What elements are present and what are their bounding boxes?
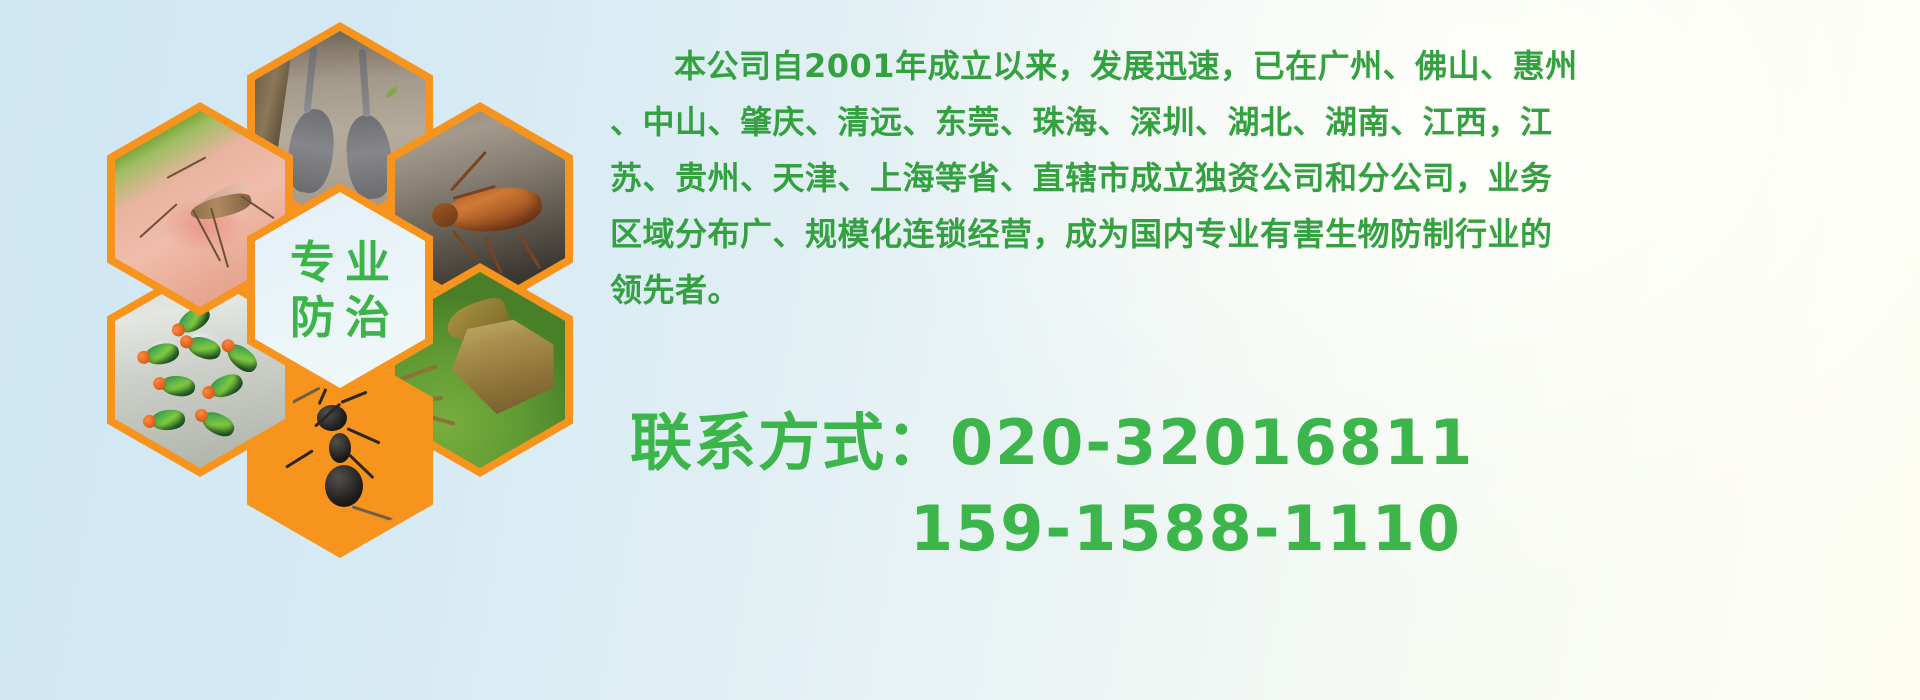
fly-6 [198, 408, 237, 441]
cockroach-body [444, 184, 544, 237]
intro-line-2: 、中山、肇庆、清远、东莞、珠海、深圳、湖北、湖南、江西，江 [610, 94, 1910, 150]
slogan-line-1: 专业 [280, 239, 400, 286]
hex-inner-slogan: 专业 防治 [255, 192, 425, 388]
intro-line-3: 苏、贵州、天津、上海等省、直辖市成立独资公司和分公司，业务 [610, 150, 1910, 206]
contact-phone-mobile[interactable]: 159-1588-1110 [620, 486, 1910, 572]
company-intro: 本公司自2001年成立以来，发展迅速，已在广州、佛山、惠州 、中山、肇庆、清远、… [610, 38, 1910, 318]
cockroach-antenna-1 [450, 151, 487, 192]
ant-leg-3 [285, 449, 314, 469]
leaf-debris-2 [385, 85, 400, 98]
ant-thorax [329, 433, 351, 463]
fly-4 [206, 370, 245, 401]
intro-line-4: 区域分布广、规模化连锁经营，成为国内专业有害生物防制行业的 [610, 206, 1910, 262]
content-column: 本公司自2001年成立以来，发展迅速，已在广州、佛山、惠州 、中山、肇庆、清远、… [610, 0, 1920, 700]
contact-block: 联系方式：020-32016811 159-1588-1110 [620, 400, 1910, 572]
honeycomb-collage: 专业 防治 [90, 0, 590, 580]
mosquito-antenna [167, 156, 207, 178]
cockroach-leg-3 [518, 234, 542, 270]
fly-3 [160, 374, 196, 397]
ant-abdomen [325, 465, 363, 507]
mosquito-leg-3 [139, 203, 177, 238]
cockroach-leg-1 [452, 230, 477, 260]
slogan-block: 专业 防治 [255, 192, 425, 388]
fly-5 [150, 408, 186, 431]
pest-control-banner: 专业 防治 本公司自2001年成立以来，发展迅速，已在广州、佛山、惠州 、中山、… [0, 0, 1920, 700]
intro-line-5: 领先者。 [610, 262, 1910, 318]
fly-1 [143, 341, 180, 368]
stinkbug-leg-1 [397, 364, 438, 382]
rat-tail-2 [359, 49, 371, 117]
rat-tail-1 [303, 45, 317, 113]
contact-phone-landline[interactable]: 联系方式：020-32016811 [620, 400, 1910, 486]
intro-line-1: 本公司自2001年成立以来，发展迅速，已在广州、佛山、惠州 [610, 38, 1910, 94]
twig-2 [352, 505, 400, 523]
slogan-line-2: 防治 [280, 294, 400, 341]
ant-leg-2 [346, 427, 380, 444]
